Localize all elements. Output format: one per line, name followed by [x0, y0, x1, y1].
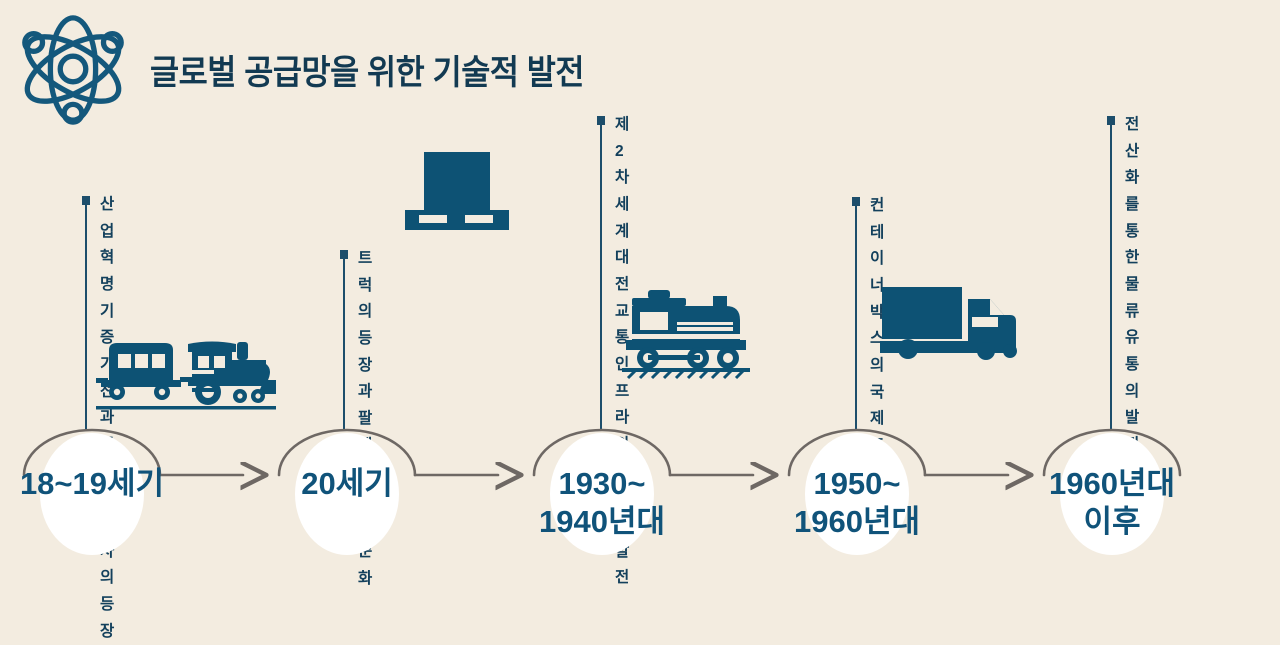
node-label: 18~19세기 [0, 465, 207, 503]
header: 글로벌 공급망을 위한 기술적 발전 [14, 10, 617, 128]
connector-line [855, 206, 857, 431]
connector-line [600, 125, 602, 431]
pin-marker [597, 116, 605, 125]
pallet-box-icon [397, 148, 517, 234]
pin-marker [1107, 116, 1115, 125]
node-label: 20세기 [232, 465, 462, 503]
pin-marker [340, 250, 348, 259]
locomotive-icon [614, 282, 758, 380]
timeline: 18~19세기 20세기 1930~ 1940년대 1950~ 1960년대 1… [0, 415, 1280, 600]
milestone-text: 전산화를 통한 물류 유통의 발전 [1125, 112, 1139, 459]
infographic-canvas: 글로벌 공급망을 위한 기술적 발전 산업혁명기 증기선과 증기기관차의 등장 [0, 0, 1280, 600]
page-title: 글로벌 공급망을 위한 기술적 발전 [150, 45, 584, 94]
connector-line [343, 259, 345, 431]
connector-line [1110, 125, 1112, 431]
pin-marker [82, 196, 90, 205]
node-label: 1960년대 이후 [997, 465, 1227, 541]
atom-icon [14, 10, 132, 128]
pin-marker [852, 197, 860, 206]
steam-train-icon [96, 330, 276, 412]
node-label: 1950~ 1960년대 [742, 465, 972, 541]
cargo-truck-icon [876, 283, 1020, 365]
node-label: 1930~ 1940년대 [487, 465, 717, 541]
connector-line [85, 205, 87, 431]
